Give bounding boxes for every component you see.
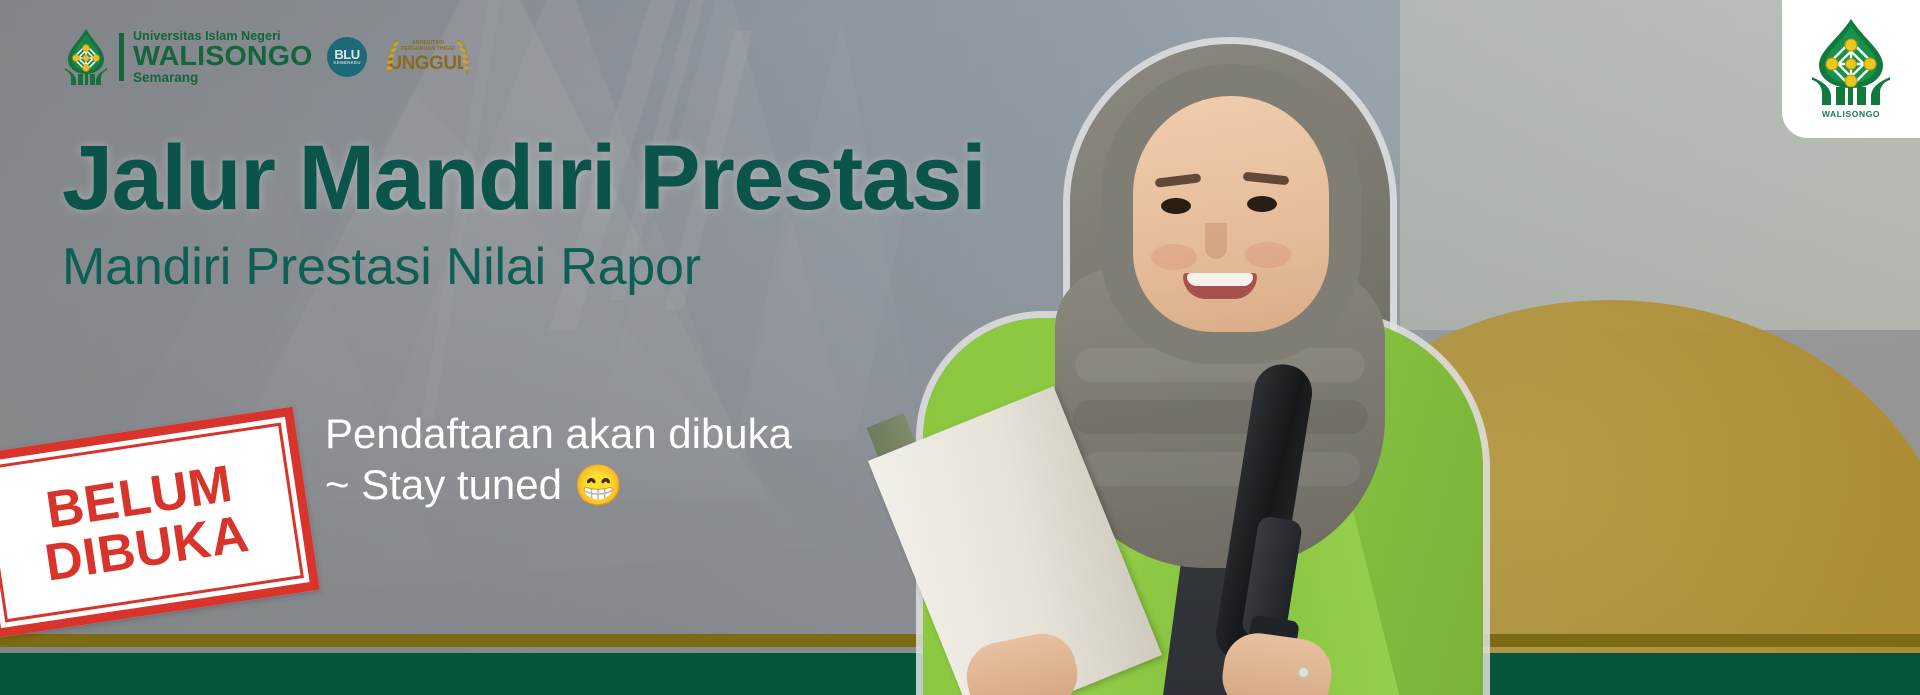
hijab-front [1101, 64, 1361, 364]
wreath-left-icon [385, 38, 401, 76]
announcement-text: Pendaftaran akan dibuka ~ Stay tuned 😁 [325, 408, 792, 511]
hijab-fold [1080, 452, 1360, 486]
cheek-left [1151, 244, 1197, 270]
headline-block: Jalur Mandiri Prestasi Mandiri Prestasi … [62, 132, 985, 294]
announcement-line-2: ~ Stay tuned 😁 [325, 459, 792, 511]
hijab-fold [1073, 400, 1368, 434]
uin-walisongo-gunungan-icon [62, 28, 110, 86]
unggul-top-line2: PERGURUAN TINGGI [401, 47, 455, 52]
wreath-right-icon [455, 38, 471, 76]
smiling-mouth [1183, 273, 1257, 299]
logo-row: Universitas Islam Negeri WALISONGO Semar… [62, 28, 471, 86]
student-photo [905, 18, 1525, 695]
blu-logo: BLU KEMENKEU [327, 37, 367, 77]
banner-subheadline: Mandiri Prestasi Nilai Rapor [62, 240, 985, 295]
uin-walisongo-gunungan-icon [1808, 17, 1894, 107]
grinning-face-emoji-icon: 😁 [574, 464, 624, 508]
eye-right [1247, 196, 1277, 212]
logo-divider [119, 33, 124, 81]
corner-logo-card: WALISONGO [1782, 0, 1920, 138]
cheek-right [1245, 242, 1291, 268]
uin-line2: WALISONGO [133, 42, 313, 70]
eye-left [1161, 198, 1191, 214]
admission-banner: Universitas Islam Negeri WALISONGO Semar… [0, 0, 1920, 695]
corner-logo-caption: WALISONGO [1808, 109, 1894, 119]
blu-subtitle: KEMENKEU [333, 61, 360, 66]
announcement-line-1: Pendaftaran akan dibuka [325, 408, 792, 459]
nose [1205, 223, 1227, 259]
akreditasi-unggul-badge: AKREDITASI PERGURUAN TINGGI UNGGUL [385, 34, 471, 80]
uin-line3: Semarang [133, 71, 309, 85]
banner-headline: Jalur Mandiri Prestasi [62, 132, 985, 226]
ring [1297, 666, 1310, 679]
uin-walisongo-emblem: WALISONGO [1808, 17, 1894, 121]
announcement-line-2-text: ~ Stay tuned [325, 461, 562, 508]
uin-walisongo-logo: Universitas Islam Negeri WALISONGO Semar… [62, 28, 309, 86]
